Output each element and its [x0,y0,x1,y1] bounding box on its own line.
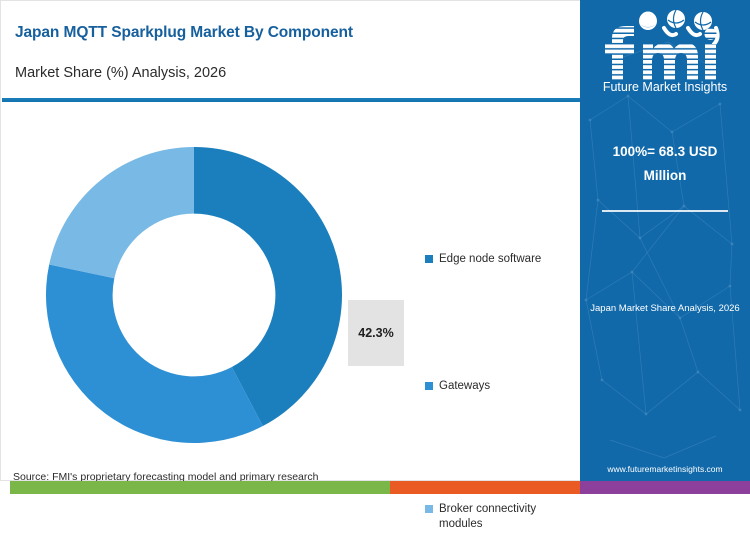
page-title: Japan MQTT Sparkplug Market By Component [15,24,353,42]
legend-swatch-icon [425,255,433,263]
chart-legend: Edge node software Gateways Broker conne… [425,252,575,542]
legend-swatch-icon [425,505,433,513]
bottom-bar-pad [0,481,10,494]
donut-slice[interactable] [46,265,263,443]
bottom-bar-segment-purple [580,481,750,494]
legend-item-label: Gateways [439,379,490,394]
data-label-value: 42.3% [358,326,393,340]
donut-slice[interactable] [49,147,194,278]
market-total-line2: Million [590,164,740,188]
bottom-bar-segment-green [10,481,390,494]
legend-item-broker-connectivity-modules[interactable]: Broker connectivity modules [425,502,575,532]
page-subtitle: Market Share (%) Analysis, 2026 [15,65,226,81]
legend-item-label: Broker connectivity modules [439,502,575,532]
sidebar-website-url: www.futuremarketinsights.com [586,464,744,474]
fmi-logo-tagline: Future Market Insights [603,80,727,94]
legend-swatch-icon [425,382,433,390]
chart-card: Japan MQTT Sparkplug Market By Component… [0,0,580,481]
market-total-value: 100%= 68.3 USD Million [590,140,740,188]
market-total-line1: 100%= 68.3 USD [590,140,740,164]
data-label-callout: 42.3% [348,300,404,366]
donut-chart [46,147,342,443]
donut-svg [46,147,342,443]
legend-item-label: Edge node software [439,252,541,267]
legend-item-gateways[interactable]: Gateways [425,379,575,394]
fmi-logo-figures [639,10,718,44]
legend-item-edge-node-software[interactable]: Edge node software [425,252,575,267]
chart-header: Japan MQTT Sparkplug Market By Component… [1,1,581,100]
bottom-color-bar [0,481,750,494]
sidebar-caption: Japan Market Share Analysis, 2026 [586,303,744,314]
sidebar-divider [602,210,728,212]
chart-area: 42.3% Edge node software Gateways Broker… [1,102,581,452]
fmi-logo: Future Market Insights [588,8,742,94]
bottom-bar-segment-orange [390,481,580,494]
brand-sidebar: Future Market Insights 100%= 68.3 USD Mi… [580,0,750,481]
infographic-page: Japan MQTT Sparkplug Market By Component… [0,0,750,494]
fmi-logo-svg: Future Market Insights [588,8,742,94]
